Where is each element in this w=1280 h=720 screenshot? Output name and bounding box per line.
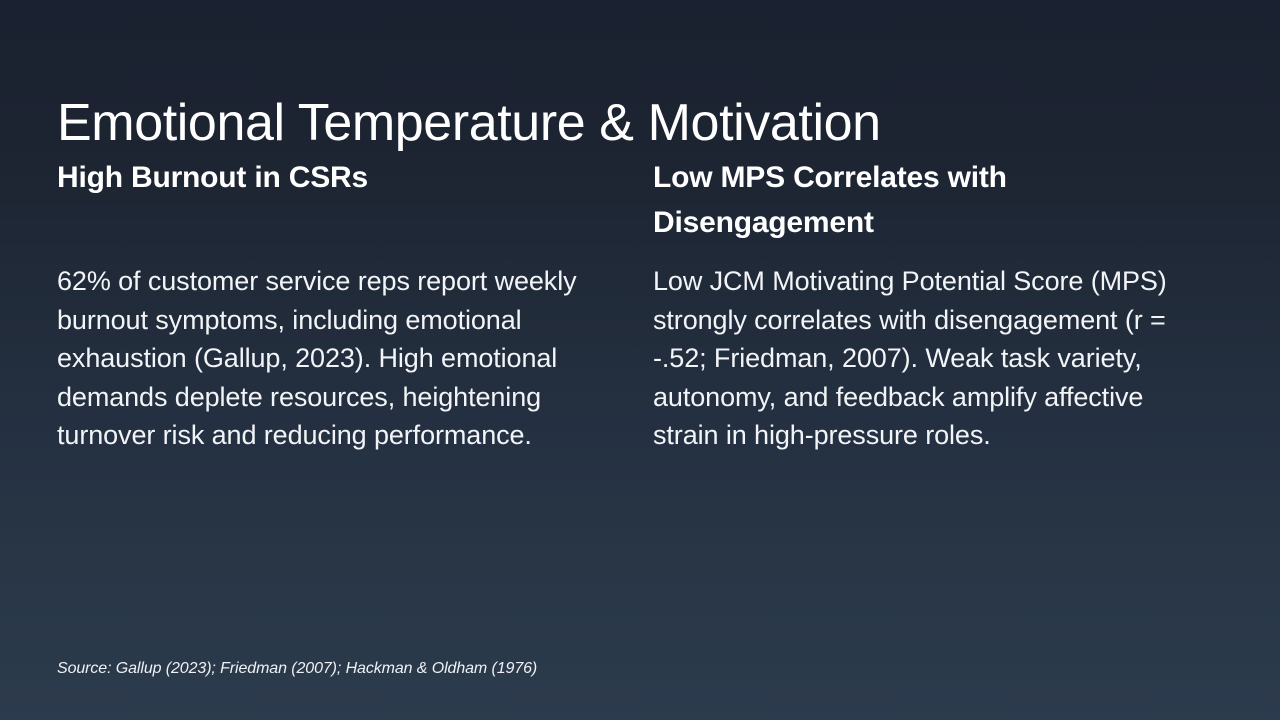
content-columns: High Burnout in CSRs 62% of customer ser…: [57, 155, 1227, 455]
column-heading-right: Low MPS Correlates with Disengagement: [653, 155, 1193, 245]
column-heading-left: High Burnout in CSRs: [57, 155, 597, 245]
column-high-burnout: High Burnout in CSRs 62% of customer ser…: [57, 155, 597, 455]
column-body-left: 62% of customer service reps report week…: [57, 245, 597, 455]
column-low-mps: Low MPS Correlates with Disengagement Lo…: [653, 155, 1193, 455]
source-citation: Source: Gallup (2023); Friedman (2007); …: [57, 658, 537, 680]
presentation-slide: Emotional Temperature & Motivation High …: [0, 0, 1280, 720]
page-title: Emotional Temperature & Motivation: [57, 93, 881, 153]
column-body-right: Low JCM Motivating Potential Score (MPS)…: [653, 245, 1193, 455]
